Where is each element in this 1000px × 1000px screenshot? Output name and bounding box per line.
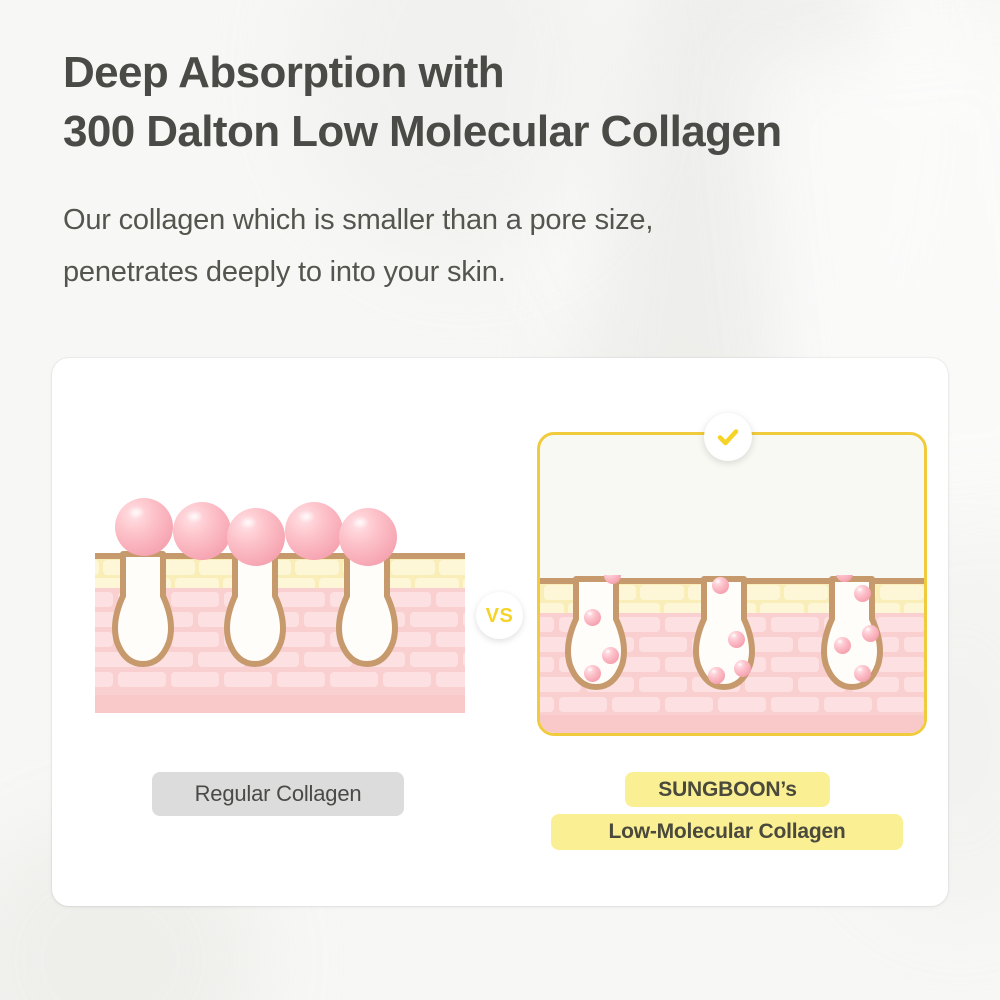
collagen-molecule-small: [834, 637, 851, 654]
collagen-molecule-small: [854, 665, 871, 682]
collagen-molecule-small: [584, 609, 601, 626]
collagen-molecule-small: [862, 625, 879, 642]
comparison-card: VS Regular Collagen SUNGBOON’s Low-Molec…: [52, 358, 948, 906]
collagen-molecule-large: [339, 508, 397, 566]
regular-pores: [95, 550, 465, 713]
regular-collagen-diagram: [95, 488, 465, 713]
brand-label: SUNGBOON’s: [625, 772, 830, 807]
lowmol-skin-cross-section: [537, 575, 927, 733]
collagen-molecule-large: [285, 502, 343, 560]
collagen-molecule-small: [602, 647, 619, 664]
collagen-molecule-large: [115, 498, 173, 556]
low-molecular-collagen-panel: [537, 432, 927, 736]
brand-label-text: SUNGBOON’s: [658, 778, 796, 802]
collagen-molecule-large: [227, 508, 285, 566]
page-title-line1: Deep Absorption with: [63, 44, 963, 103]
collagen-molecule-small: [584, 665, 601, 682]
vs-badge: VS: [476, 592, 523, 639]
collagen-molecule-large: [173, 502, 231, 560]
regular-collagen-label-text: Regular Collagen: [195, 781, 362, 807]
collagen-molecule-small: [734, 660, 751, 677]
collagen-molecule-small: [712, 577, 729, 594]
subtitle: Our collagen which is smaller than a por…: [63, 195, 963, 298]
check-icon: [714, 423, 742, 451]
check-badge: [704, 413, 752, 461]
low-molecular-label-text: Low-Molecular Collagen: [608, 820, 845, 844]
collagen-molecule-small: [854, 585, 871, 602]
collagen-molecule-small: [728, 631, 745, 648]
vs-label: VS: [486, 606, 514, 626]
collagen-molecule-small: [708, 667, 725, 684]
subtitle-line1: Our collagen which is smaller than a por…: [63, 195, 963, 247]
header: Deep Absorption with 300 Dalton Low Mole…: [63, 44, 963, 298]
regular-collagen-label: Regular Collagen: [152, 772, 404, 816]
regular-skin-cross-section: [95, 550, 465, 713]
subtitle-line2: penetrates deeply to into your skin.: [63, 247, 963, 299]
page-title-line2: 300 Dalton Low Molecular Collagen: [63, 103, 963, 162]
low-molecular-label: Low-Molecular Collagen: [551, 814, 903, 850]
